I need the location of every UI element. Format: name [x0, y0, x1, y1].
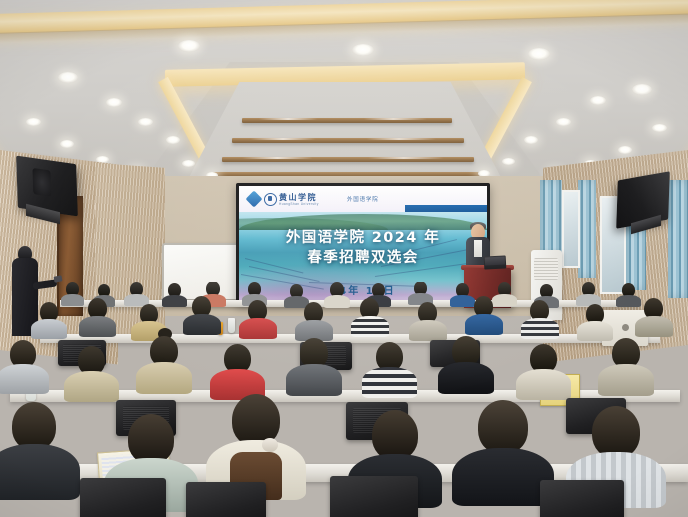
recessed-downlight: [182, 160, 195, 167]
shoulders: [351, 316, 389, 337]
laptop-screen: [485, 256, 505, 265]
hair-scrunchie: [262, 438, 278, 452]
recessed-downlight: [652, 124, 667, 132]
shoulders: [286, 364, 342, 396]
auditorium-photo: 黄山学院 HuangShan University 外国语学院 外国语学院 20…: [0, 0, 688, 517]
head: [372, 410, 418, 460]
shoulders: [79, 316, 116, 337]
shoulders: [324, 295, 350, 308]
head: [478, 400, 528, 454]
tote-handle-hole: [622, 324, 629, 331]
recessed-downlight: [60, 140, 74, 148]
chair-back: [330, 476, 418, 517]
chair-back: [540, 480, 624, 517]
shoulders: [409, 320, 447, 341]
head: [592, 406, 640, 458]
recessed-downlight: [106, 98, 122, 107]
slat-highlight: [242, 118, 452, 120]
window-curtain: [578, 180, 596, 278]
recessed-downlight: [26, 118, 41, 126]
paper-cup: [228, 318, 235, 333]
shoulders: [162, 295, 187, 307]
department-name-cn: 外国语学院: [347, 195, 379, 203]
shoulders: [362, 367, 417, 398]
shoulders: [450, 295, 475, 307]
presenter-shirt: [474, 240, 482, 257]
shoulders: [521, 318, 559, 339]
recessed-downlight: [618, 146, 632, 154]
head: [12, 402, 56, 450]
recessed-downlight: [58, 72, 78, 83]
speaker-cone-icon: [32, 168, 51, 197]
shoulders: [577, 321, 613, 341]
shoulders: [635, 316, 673, 337]
recessed-downlight: [178, 40, 200, 52]
recessed-downlight: [166, 136, 180, 144]
slat-highlight: [222, 157, 474, 159]
slide-title-line-1: 外国语学院 2024 年: [239, 228, 487, 248]
shoulders: [61, 294, 84, 306]
window-pane: [562, 190, 580, 268]
slide-header: 黄山学院 HuangShan University 外国语学院: [239, 186, 487, 212]
shoulders: [31, 319, 67, 339]
head: [128, 414, 174, 464]
window-curtain: [668, 180, 688, 298]
laptop[interactable]: [484, 255, 507, 269]
shoulders: [0, 444, 80, 500]
university-seal-icon: [264, 193, 277, 206]
ceiling-center-panel: [185, 82, 505, 185]
shoulders: [136, 362, 192, 394]
ceiling: [0, 0, 688, 185]
shoulders: [438, 362, 494, 394]
slide-title-line-2: 春季招聘双选会: [239, 248, 487, 268]
chair-back: [186, 482, 266, 517]
shoulders: [492, 294, 517, 306]
recessed-downlight: [590, 96, 606, 105]
recessed-downlight: [502, 158, 515, 165]
recessed-downlight: [138, 118, 153, 126]
recessed-downlight: [632, 84, 652, 95]
recessed-downlight: [528, 48, 550, 60]
air-conditioner-grill: [534, 258, 558, 280]
shoulders: [616, 295, 641, 307]
shoulders: [239, 318, 277, 339]
slat-highlight: [232, 138, 464, 140]
diamond-logo-icon: [246, 191, 263, 208]
shoulders: [516, 369, 571, 400]
shoulders: [452, 448, 554, 506]
shoulders: [0, 364, 49, 394]
recessed-downlight: [556, 118, 571, 126]
shoulders: [64, 371, 119, 402]
university-name-en: HuangShan University: [279, 202, 319, 206]
shoulders: [465, 314, 503, 335]
chair-back: [80, 478, 166, 517]
shoulders: [183, 314, 221, 335]
audience-area: [0, 282, 688, 517]
shoulders: [598, 364, 654, 396]
recessed-downlight: [524, 136, 538, 144]
recessed-downlight: [352, 44, 374, 56]
